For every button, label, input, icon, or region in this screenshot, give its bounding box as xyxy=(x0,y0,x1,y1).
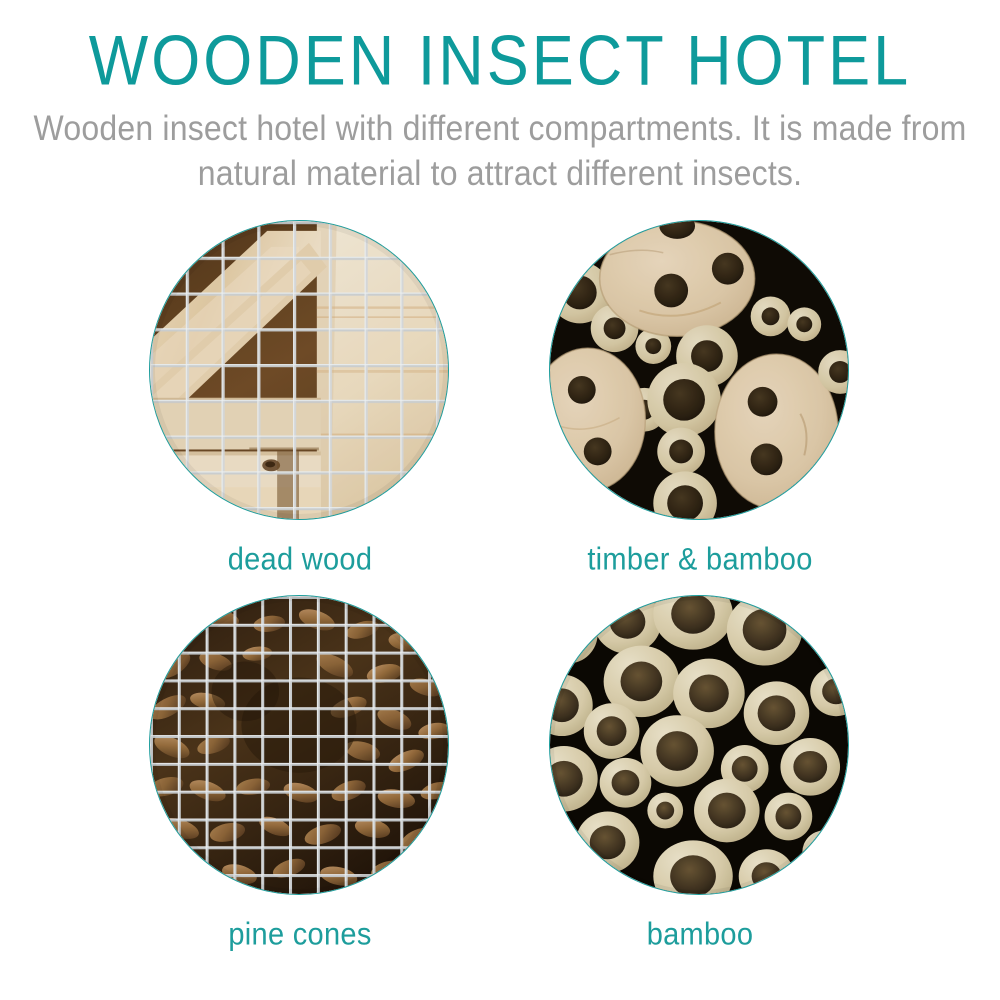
panel-caption-bamboo: bamboo xyxy=(530,917,870,953)
circle-frame xyxy=(549,595,851,897)
bamboo-photo xyxy=(549,595,849,895)
feature-panel-pine-cones: pine cones xyxy=(130,595,470,897)
dead-wood-photo xyxy=(149,220,449,520)
circle-frame xyxy=(149,220,451,522)
pine-cones-photo xyxy=(149,595,449,895)
circle-frame xyxy=(549,220,851,522)
panel-caption-pine-cones: pine cones xyxy=(130,917,470,953)
feature-panel-dead-wood: dead wood xyxy=(130,220,470,522)
feature-panel-timber-bamboo: timber & bamboo xyxy=(530,220,870,522)
timber-bamboo-photo xyxy=(549,220,849,520)
panel-caption-dead-wood: dead wood xyxy=(130,542,470,578)
feature-panel-bamboo: bamboo xyxy=(530,595,870,897)
circle-frame xyxy=(149,595,451,897)
feature-grid: dead wood xyxy=(0,0,1000,1000)
panel-caption-timber-bamboo: timber & bamboo xyxy=(530,542,870,578)
product-infographic-page: WOODEN INSECT HOTEL Wooden insect hotel … xyxy=(0,0,1000,1000)
